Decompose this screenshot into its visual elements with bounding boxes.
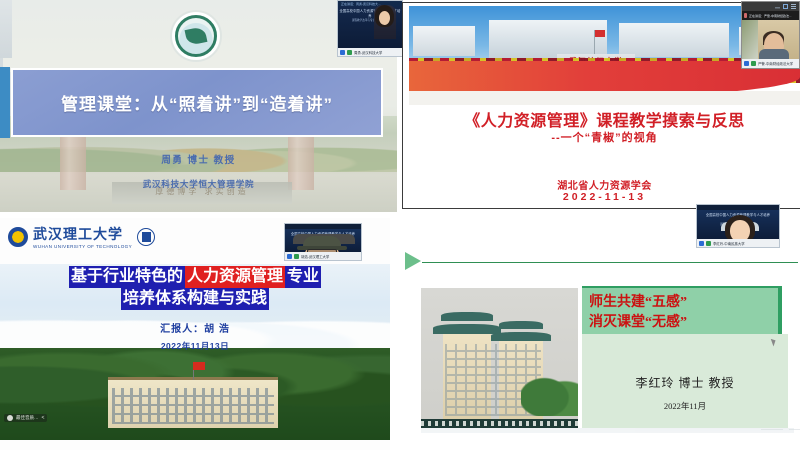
slide-date: 2022-11-13 (409, 191, 800, 203)
slide-title-box: 管理课堂：从“照着讲”到“造着讲” (11, 68, 383, 137)
campus-building (108, 377, 278, 428)
window-controls[interactable] (742, 2, 799, 11)
webcam-thumbnail-zhou-yong[interactable]: 正在讲话：周勇-武汉科技大... 全国高校中国人力资源管理教学与人才培养 课程教… (337, 0, 403, 57)
webcam-video-feed (742, 20, 799, 59)
background-ghost-strip (421, 428, 794, 433)
slide-title: 管理课堂：从“照着讲”到“造着讲” (61, 90, 333, 115)
minimize-icon[interactable] (775, 4, 780, 9)
webcam-thumbnail-yan-jing[interactable]: 正在讲话：严警-中南财经政法... 严警-中南财经政法大学 (741, 1, 800, 69)
university-logo-cn: 武汉理工大学 (33, 226, 123, 242)
slide-title-line2: 消灭课堂“无感” (589, 311, 687, 331)
slide-title-part2: 人力资源管理 (185, 266, 285, 288)
university-seal-icon (170, 10, 222, 62)
participant-name: 周勇-武汉科技大学 (354, 50, 382, 55)
webcam-window-title: 正在讲话：严警-中南财经政法... (749, 14, 792, 18)
webcam-footer: 胡浩-武汉理工大学 (285, 252, 361, 260)
slide-accent-bar-left (0, 67, 10, 138)
microphone-icon (347, 50, 352, 55)
slide-body-box: 李红玲 博士 教授 2022年11月 (582, 334, 788, 428)
slide-title-part1: 基于行业特色的 (69, 266, 185, 288)
screen-share-icon (287, 254, 292, 259)
slide-presenter: 周勇 博士 教授 (0, 152, 397, 166)
flag-icon (595, 30, 605, 37)
webcam-shared-slide: 全国高校中国人力资源管理教学与人才培养 课程教学改革与专业建设研讨会 (338, 6, 402, 48)
webcam-footer: 李红玲-中南民族大学 (697, 239, 779, 247)
webcam-shared-slide: 全国高校中国人力资源管理教学与人才培养 课程教学改革与专业建设研讨会 (697, 210, 779, 239)
webcam-thumbnail-li-hongling[interactable]: 全国高校中国人力资源管理教学与人才培养 课程教学改革与专业建设研讨会 李红玲-中… (696, 204, 780, 248)
webcam-footer: 严警-中南财经政法大学 (742, 59, 799, 68)
slide-subtitle: --一个“青椒”的视角 (409, 129, 800, 145)
meeting-collage: 厚德博学 求实创造 管理课堂：从“照着讲”到“造着讲” 周勇 博士 教授 武汉科… (0, 0, 800, 450)
slide-affiliation: 武汉科技大学恒大管理学院 (0, 178, 397, 190)
osd-icon (7, 415, 13, 421)
secondary-logo-icon (137, 228, 155, 246)
slide-panel-bottom-right[interactable]: 师生共建“五感” 消灭课堂“无感” 李红玲 博士 教授 2022年11月 (404, 228, 800, 433)
microphone-icon (706, 241, 711, 246)
play-triangle-icon (405, 252, 421, 270)
university-logo: 武汉理工大学 WUHAN UNIVERSITY OF TECHNOLOGY (8, 224, 155, 249)
microphone-icon (744, 13, 747, 18)
screen-share-icon (744, 61, 749, 66)
osd-overlay-widget[interactable]: 最佳音质… < (4, 414, 47, 422)
slide-title: 《人力资源管理》课程教学摸索与反思 (409, 107, 800, 131)
slide-title: 基于行业特色的人力资源管理专业 培养体系构建与实践 (0, 266, 390, 310)
chevron-left-icon[interactable]: < (42, 415, 45, 421)
participant-silhouette (374, 5, 396, 39)
menu-icon[interactable] (791, 4, 796, 9)
pavement-strip (409, 91, 800, 105)
webcam-footer: 周勇-武汉科技大学 (338, 48, 402, 56)
webcam-shared-slide: 全国高校中国人力资源管理教学与人才培养 课程教学改革与专业建设研讨会 (285, 229, 361, 252)
slide-reporter: 汇报人：胡 浩 (0, 320, 390, 335)
osd-text: 最佳音质… (16, 415, 39, 421)
slide-title-part3: 专业 (285, 266, 321, 288)
webcam-titlebar: 正在讲话：严警-中南财经政法... (742, 11, 799, 20)
microphone-icon (751, 61, 756, 66)
webcam-window-title: 正在讲话：周勇-武汉科技大... (341, 2, 381, 6)
maximize-icon[interactable] (783, 4, 788, 9)
participant-name: 严警-中南财经政法大学 (758, 61, 793, 66)
campus-building-photo (421, 288, 578, 428)
slide-title-line2: 培养体系构建与实践 (121, 288, 269, 310)
slide-presenter: 李红玲 博士 教授 (582, 374, 788, 391)
decor-tower-left (0, 0, 12, 58)
slide-date: 2022年11月13日 (0, 340, 390, 352)
screen-share-icon (699, 241, 704, 246)
slide-organization: 湖北省人力资源学会 (409, 177, 800, 192)
slide-divider (422, 262, 798, 263)
participant-name: 李红玲-中南民族大学 (713, 241, 745, 246)
slide-date: 2022年11月 (582, 400, 788, 412)
participant-name: 胡浩-武汉理工大学 (301, 254, 329, 259)
wut-crest-icon (8, 227, 28, 247)
screen-share-icon (340, 50, 345, 55)
webcam-thumbnail-hu-hao[interactable]: 全国高校中国人力资源管理教学与人才培养 课程教学改革与专业建设研讨会 胡浩-武汉… (284, 223, 362, 261)
slide-title-banner: 师生共建“五感” 消灭课堂“无感” (582, 288, 778, 334)
flag-icon (193, 362, 205, 370)
slide-title-line1: 师生共建“五感” (589, 291, 687, 311)
microphone-icon (294, 254, 299, 259)
university-logo-en: WUHAN UNIVERSITY OF TECHNOLOGY (33, 244, 132, 249)
